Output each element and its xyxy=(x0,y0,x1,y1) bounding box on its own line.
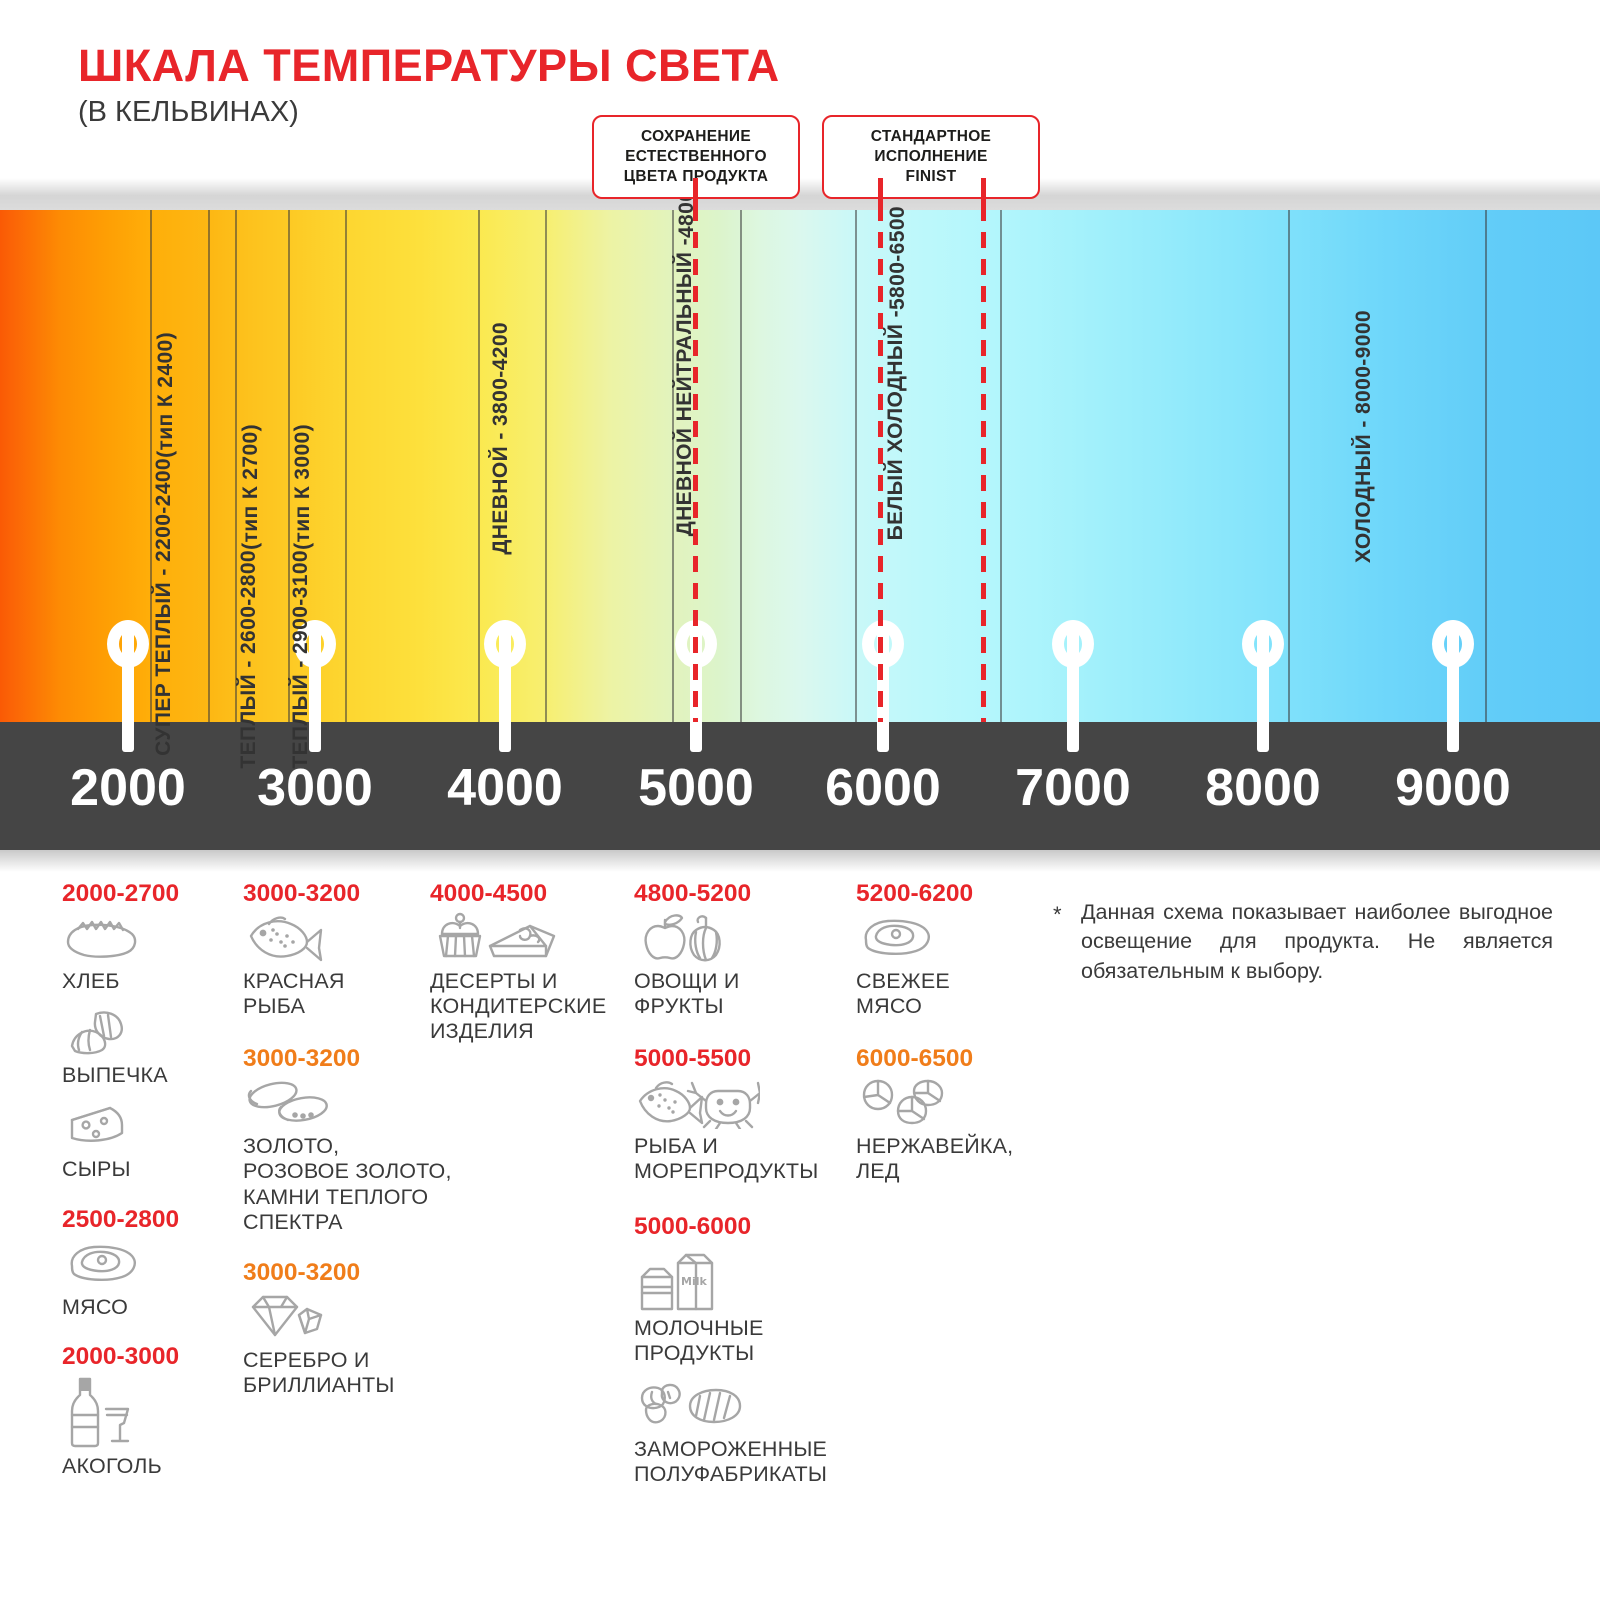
legend-item-label: ЗАМОРОЖЕННЫЕПОЛУФАБРИКАТЫ xyxy=(634,1437,854,1487)
band-divider xyxy=(740,210,742,722)
tick-label: 7000 xyxy=(1015,758,1131,818)
footnote-star: * xyxy=(1053,898,1081,986)
tick-label: 6000 xyxy=(825,758,941,818)
legend-item: ВЫПЕЧКА xyxy=(62,1006,232,1088)
legend-range: 4800-5200 xyxy=(634,880,854,908)
legend-range: 2000-3000 xyxy=(62,1343,232,1371)
band-label-type: (тип К 2700) xyxy=(239,424,263,550)
legend-group: 6000-6500 НЕРЖАВЕЙКА,ЛЕД xyxy=(856,1045,1056,1184)
spectrum-gradient-bar: СУПЕР ТЕПЛЫЙ - 2200-2400 (тип К 2400) ТЕ… xyxy=(0,210,1600,722)
band-divider xyxy=(1000,210,1002,722)
svg-text:Milk: Milk xyxy=(681,1275,707,1288)
band-label-name: БЕЛЫЙ ХОЛОДНЫЙ - xyxy=(884,310,908,540)
cheese-icon xyxy=(62,1100,232,1154)
legend-item: ЗАМОРОЖЕННЫЕПОЛУФАБРИКАТЫ xyxy=(634,1380,854,1487)
legend-group: 2000-3000 АКОГОЛЬ xyxy=(62,1343,232,1479)
band-label-name: ТЕПЛЫЙ - 2600-2800 xyxy=(237,550,261,769)
rings-icon xyxy=(243,1077,488,1131)
steak-icon xyxy=(62,1238,232,1292)
legend-range: 5200-6200 xyxy=(856,880,1056,908)
legend-item-label: СЫРЫ xyxy=(62,1157,232,1182)
callout-line: ЕСТЕСТВЕННОГО xyxy=(606,147,786,167)
legend-item-label: ДЕСЕРТЫ ИКОНДИТЕРСКИЕИЗДЕЛИЯ xyxy=(430,969,630,1044)
callout-line: FINIST xyxy=(836,167,1026,187)
legend-item: ХЛЕБ xyxy=(62,912,232,994)
legend-range: 3000-3200 xyxy=(243,1259,488,1287)
marker-line-finist-low xyxy=(878,178,883,722)
tick-label: 8000 xyxy=(1205,758,1321,818)
legend-group: 5000-6000 Milk МОЛОЧНЫЕ ПРОДУКТЫ xyxy=(634,1213,854,1488)
legend-range: 6000-6500 xyxy=(856,1045,1056,1073)
band-divider xyxy=(855,210,857,722)
legend-column-1: 2000-2700 ХЛЕБ xyxy=(62,880,232,1491)
page-title: ШКАЛА ТЕМПЕРАТУРЫ СВЕТА xyxy=(78,40,780,92)
band-label-name: ТЕПЛЫЙ - 2900-3100 xyxy=(289,550,313,769)
legend-range: 4000-4500 xyxy=(430,880,630,908)
frozen-food-icon xyxy=(634,1380,854,1434)
tick-ring-icon xyxy=(484,620,526,668)
legend-item-label: АКОГОЛЬ xyxy=(62,1454,232,1479)
legend-group: 2000-2700 ХЛЕБ xyxy=(62,880,232,1182)
legend-item: ЗОЛОТО,РОЗОВОЕ ЗОЛОТО,КАМНИ ТЕПЛОГОСПЕКТ… xyxy=(243,1077,488,1235)
legend-column-5: 5200-6200 СВЕЖЕЕМЯСО 6000-6500 xyxy=(856,880,1056,1197)
tick-ring-icon xyxy=(1242,620,1284,668)
tick-ring-icon xyxy=(1052,620,1094,668)
croissant-icon xyxy=(62,1006,232,1060)
legend-item-label: ЗОЛОТО,РОЗОВОЕ ЗОЛОТО,КАМНИ ТЕПЛОГОСПЕКТ… xyxy=(243,1134,488,1235)
legend-group: 2500-2800 МЯСО xyxy=(62,1206,232,1320)
legend-range: 2500-2800 xyxy=(62,1206,232,1234)
band-label-name: ДНЕВНОЙ - 3800-4200 xyxy=(489,322,513,555)
band-label-name: СУПЕР ТЕПЛЫЙ - 2200-2400 xyxy=(152,458,176,756)
legend-item: СЕРЕБРО ИБРИЛЛИАНТЫ xyxy=(243,1291,488,1398)
band-divider xyxy=(478,210,480,722)
legend-item-label: ОВОЩИ ИФРУКТЫ xyxy=(634,969,854,1019)
tick-label: 5000 xyxy=(638,758,754,818)
bottle-glass-icon xyxy=(62,1375,232,1451)
band-divider xyxy=(345,210,347,722)
tick-label: 4000 xyxy=(447,758,563,818)
band-label-type: 5800-6500 xyxy=(886,206,910,310)
callout-line: ИСПОЛНЕНИЕ xyxy=(836,147,1026,167)
tick-label: 2000 xyxy=(70,758,186,818)
ice-cube-icon xyxy=(856,1077,1056,1131)
band-divider xyxy=(208,210,210,722)
legend-group: 4800-5200 ОВОЩИ ИФРУКТЫ xyxy=(634,880,854,1019)
band-divider xyxy=(1485,210,1487,722)
legend-group: 4000-4500 ДЕС xyxy=(430,880,630,1044)
legend-item-label: ВЫПЕЧКА xyxy=(62,1063,232,1088)
fish-crab-icon xyxy=(634,1077,854,1131)
legend-item: СВЕЖЕЕМЯСО xyxy=(856,912,1056,1019)
band-label-name: ХОЛОДНЫЙ - 8000-9000 xyxy=(1352,310,1376,563)
legend-item-label: ХЛЕБ xyxy=(62,969,232,994)
legend-item: ДЕСЕРТЫ ИКОНДИТЕРСКИЕИЗДЕЛИЯ xyxy=(430,912,630,1044)
legend-column-4: 4800-5200 ОВОЩИ ИФРУКТЫ xyxy=(634,880,854,1499)
legend-item-label: РЫБА ИМОРЕПРОДУКТЫ xyxy=(634,1134,854,1184)
legend-group: 5200-6200 СВЕЖЕЕМЯСО xyxy=(856,880,1056,1019)
callout-connector-natural xyxy=(693,178,698,212)
legend-item-label: СВЕЖЕЕМЯСО xyxy=(856,969,1056,1019)
milk-carton-icon: Milk xyxy=(634,1251,854,1313)
tick-ring-icon xyxy=(1432,620,1474,668)
legend-item-label: МЯСО xyxy=(62,1295,232,1320)
legend-item: НЕРЖАВЕЙКА,ЛЕД xyxy=(856,1077,1056,1184)
legend-item: АКОГОЛЬ xyxy=(62,1375,232,1479)
scale-bar-shadow xyxy=(0,850,1600,872)
marker-line-finist-high xyxy=(981,178,986,722)
diamond-icon xyxy=(243,1291,488,1345)
marker-line-natural-color xyxy=(693,178,698,722)
footnote: * Данная схема показывает наиболее выгод… xyxy=(1053,898,1553,986)
cake-dessert-icon xyxy=(430,912,630,966)
legend-group: 3000-3200 ЗОЛОТО,РОЗОВОЕ ЗОЛОТО,КАМНИ ТЕ… xyxy=(243,1045,488,1235)
footnote-text: Данная схема показывает наиболее выгодно… xyxy=(1081,898,1553,986)
legend-item-label: СЕРЕБРО ИБРИЛЛИАНТЫ xyxy=(243,1348,488,1398)
legend-item: Milk МОЛОЧНЫЕ ПРОДУКТЫ xyxy=(634,1251,854,1366)
bread-icon xyxy=(62,912,232,966)
legend-column-3: 4000-4500 ДЕС xyxy=(430,880,630,1056)
apple-pepper-icon xyxy=(634,912,854,966)
callout-line: СТАНДАРТНОЕ xyxy=(836,127,1026,147)
band-divider xyxy=(1288,210,1290,722)
infographic-root: ШКАЛА ТЕМПЕРАТУРЫ СВЕТА (В КЕЛЬВИНАХ) СО… xyxy=(0,0,1600,1600)
shelf-strip xyxy=(0,178,1600,210)
legend-group: 5000-5500 xyxy=(634,1045,854,1184)
legend-item-label: НЕРЖАВЕЙКА,ЛЕД xyxy=(856,1134,1056,1184)
tick-label: 3000 xyxy=(257,758,373,818)
band-label-type: (тип К 3000) xyxy=(291,424,315,550)
legend-item-label: МОЛОЧНЫЕ ПРОДУКТЫ xyxy=(634,1316,854,1366)
tick-ring-icon xyxy=(862,620,904,668)
callout-connector-finist-high xyxy=(981,178,986,212)
legend-item: ОВОЩИ ИФРУКТЫ xyxy=(634,912,854,1019)
band-label-type: (тип К 2400) xyxy=(154,332,178,458)
fresh-meat-icon xyxy=(856,912,1056,966)
legend-range: 5000-5500 xyxy=(634,1045,854,1073)
legend-range: 2000-2700 xyxy=(62,880,232,908)
callout-finist-standard: СТАНДАРТНОЕ ИСПОЛНЕНИЕ FINIST xyxy=(822,115,1040,199)
legend-group: 3000-3200 СЕРЕБРО ИБРИЛЛИАНТЫ xyxy=(243,1259,488,1398)
page-subtitle: (В КЕЛЬВИНАХ) xyxy=(78,96,299,129)
legend-range: 5000-6000 xyxy=(634,1213,854,1241)
legend-item: РЫБА ИМОРЕПРОДУКТЫ xyxy=(634,1077,854,1184)
legend-item: МЯСО xyxy=(62,1238,232,1320)
tick-ring-icon xyxy=(107,620,149,668)
tick-label: 9000 xyxy=(1395,758,1511,818)
callout-line: СОХРАНЕНИЕ xyxy=(606,127,786,147)
callout-connector-finist-low xyxy=(878,178,883,212)
band-divider xyxy=(545,210,547,722)
legend-item: СЫРЫ xyxy=(62,1100,232,1182)
